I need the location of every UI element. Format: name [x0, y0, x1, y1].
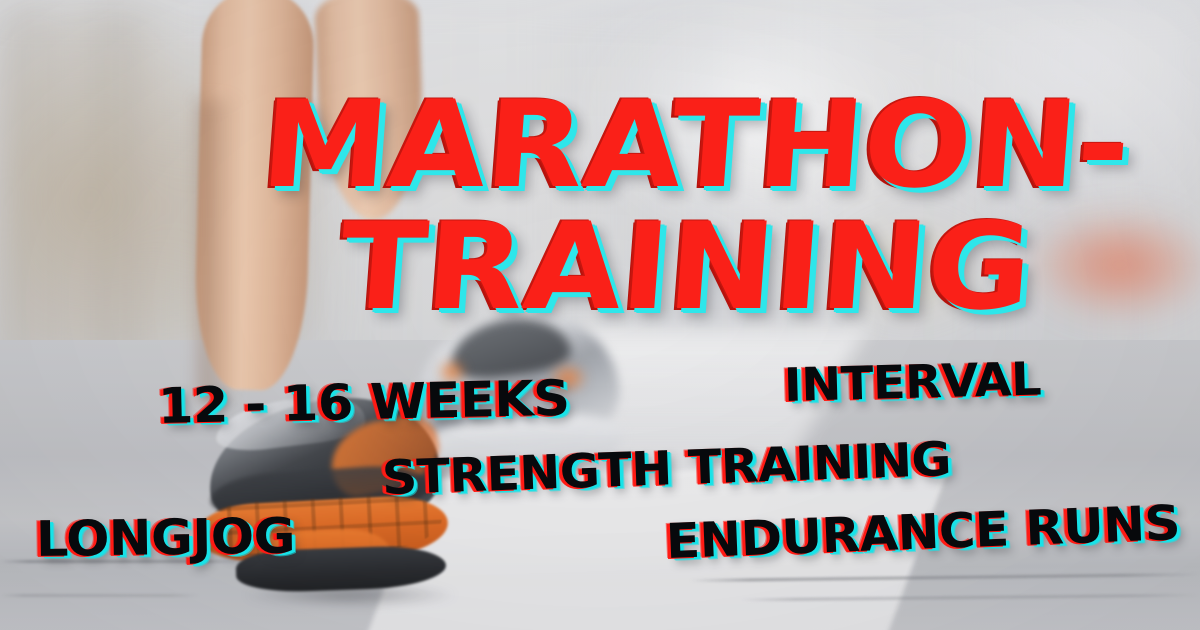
- poster-title-line-1: MARATHON-: [258, 86, 1134, 206]
- feature-label-weeks: 12 - 16 WEEKS: [157, 374, 569, 431]
- poster-canvas: MARATHON- TRAINING 12 - 16 WEEKS INTERVA…: [0, 0, 1200, 630]
- poster-title-line-2: TRAINING: [336, 208, 1036, 328]
- feature-label-longjog: LONGJOG: [36, 512, 296, 564]
- feature-label-interval: INTERVAL: [783, 356, 1041, 408]
